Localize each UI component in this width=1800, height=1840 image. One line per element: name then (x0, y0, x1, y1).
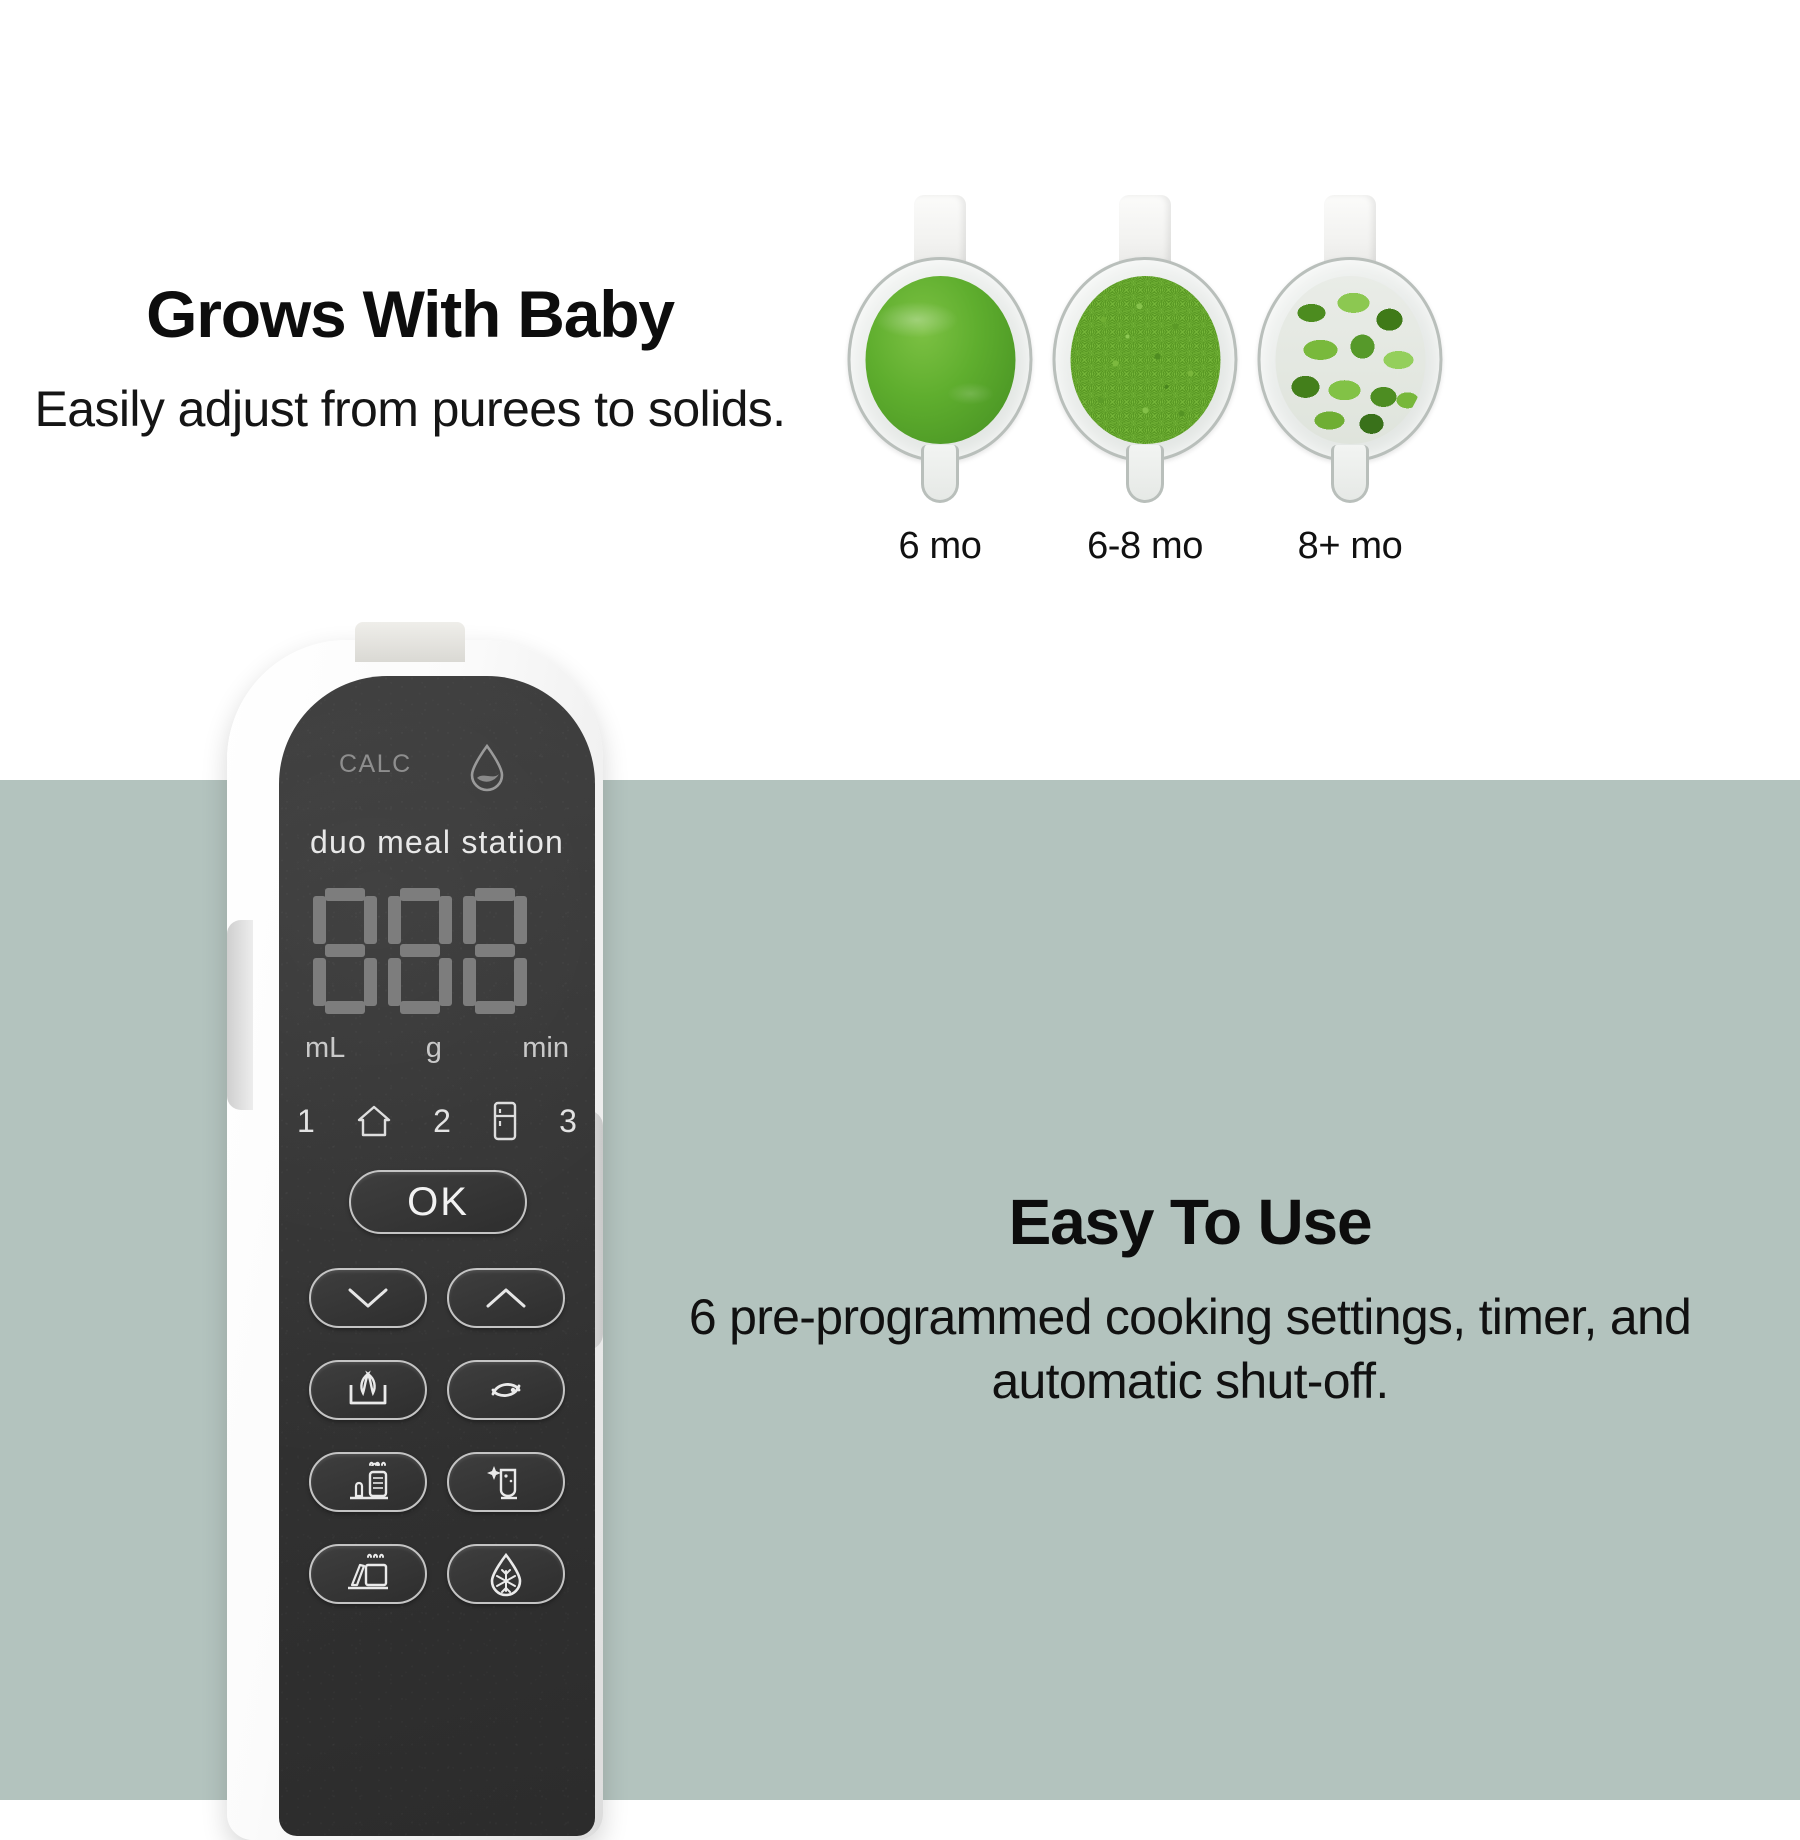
mode-number-2: 2 (433, 1103, 451, 1140)
house-icon (354, 1101, 394, 1141)
fridge-icon (490, 1100, 520, 1142)
lcd-display (313, 888, 561, 1020)
steam-button[interactable] (309, 1360, 427, 1420)
texture-stage-item: 8+ mo (1250, 195, 1450, 615)
decrease-button[interactable] (309, 1268, 427, 1328)
section-body: 6 pre-programmed cooking settings, timer… (640, 1285, 1740, 1413)
sterilize-button[interactable] (447, 1452, 565, 1512)
calc-indicator-label: CALC (339, 750, 412, 779)
food-texture-coarse-chunks (1275, 276, 1425, 444)
duo-meal-station-device: CALC duo meal station (205, 640, 625, 1840)
indicator-row: CALC (279, 746, 595, 790)
chevron-down-icon (346, 1285, 390, 1311)
age-label: 8+ mo (1250, 525, 1450, 568)
reheat-button[interactable] (309, 1544, 427, 1604)
grows-with-baby-block: Grows With Baby Easily adjust from puree… (0, 280, 820, 441)
unit-label-row: mL g min (305, 1032, 569, 1065)
sterilize-bottle-icon (483, 1460, 529, 1504)
mode-number-3: 3 (559, 1103, 577, 1140)
unit-label-min: min (522, 1032, 569, 1065)
easy-to-use-block: Easy To Use 6 pre-programmed cooking set… (640, 1185, 1740, 1413)
ok-button[interactable]: OK (349, 1170, 527, 1234)
mode-number-1: 1 (297, 1103, 315, 1140)
jar-spout-icon (921, 445, 959, 503)
jar-spout-icon (1331, 445, 1369, 503)
page-subtitle: Easily adjust from purees to solids. (0, 377, 820, 441)
control-faceplate: CALC duo meal station (279, 676, 595, 1836)
blender-jar-icon (1258, 257, 1443, 462)
water-drop-icon (465, 742, 509, 794)
texture-stage-item: 6 mo (840, 195, 1040, 615)
mode-indicator-row: 1 2 3 (297, 1100, 577, 1142)
texture-stage-gallery: 6 mo 6-8 mo 8+ mo (820, 195, 1520, 615)
blend-rotate-icon (483, 1368, 529, 1412)
blender-jar-icon (848, 257, 1033, 462)
left-side-nub (227, 920, 253, 1110)
warm-bottle-button[interactable] (309, 1452, 427, 1512)
food-texture-fine-mince (1070, 276, 1220, 444)
texture-stage-item: 6-8 mo (1045, 195, 1245, 615)
age-label: 6 mo (840, 525, 1040, 568)
lid-tab (355, 622, 465, 662)
increase-button[interactable] (447, 1268, 565, 1328)
jar-spout-icon (1126, 445, 1164, 503)
unit-label-g: g (426, 1032, 442, 1065)
page-title: Grows With Baby (0, 280, 820, 349)
unit-label-ml: mL (305, 1032, 345, 1065)
food-texture-smooth-puree (865, 276, 1015, 444)
chevron-up-icon (484, 1285, 528, 1311)
bottle-warm-icon (342, 1460, 394, 1504)
lcd-digit (463, 888, 527, 1014)
defrost-button[interactable] (447, 1544, 565, 1604)
lcd-digit (313, 888, 377, 1014)
device-housing: CALC duo meal station (227, 640, 603, 1840)
steam-basket-icon (343, 1369, 393, 1411)
section-title: Easy To Use (640, 1185, 1740, 1259)
blender-jar-icon (1053, 257, 1238, 462)
device-brand-label: duo meal station (279, 824, 595, 861)
age-label: 6-8 mo (1045, 525, 1245, 568)
reheat-jar-icon (342, 1553, 394, 1595)
defrost-snowflake-icon (485, 1551, 527, 1597)
blend-button[interactable] (447, 1360, 565, 1420)
lcd-digit (388, 888, 452, 1014)
